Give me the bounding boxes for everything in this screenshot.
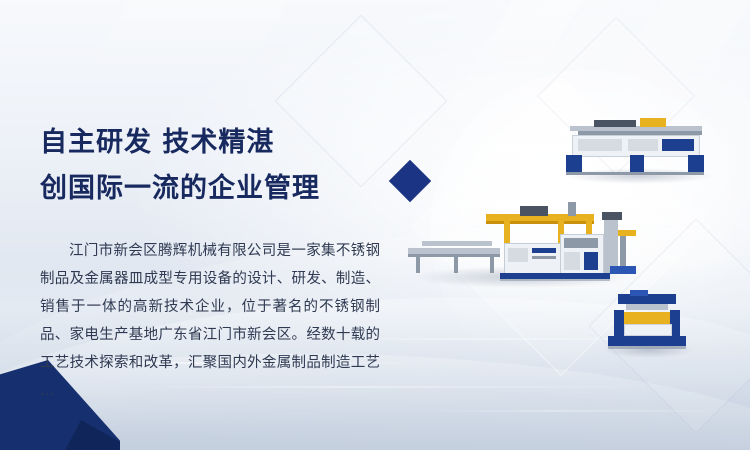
top-machine-control-box	[662, 139, 694, 151]
top-machine-image	[558, 112, 718, 182]
machine-base-right	[610, 266, 636, 274]
headline-line-1: 自主研发 技术精湛	[40, 127, 274, 158]
page-title: 自主研发 技术精湛 创国际一流的企业管理	[40, 120, 420, 212]
bottom-machine-post-left	[614, 310, 624, 338]
headline-line-2: 创国际一流的企业管理	[40, 166, 420, 212]
machine-vent	[532, 256, 556, 259]
bottom-machine-bed	[624, 324, 672, 336]
gantry-post-1	[504, 221, 510, 243]
bottom-machine-cap	[630, 290, 648, 296]
conveyor-top-bar	[422, 241, 492, 246]
top-machine-amber-unit	[640, 118, 666, 127]
conveyor-leg-1	[416, 257, 420, 273]
machine-column-cap	[602, 212, 622, 220]
bottom-machine-image	[600, 290, 696, 356]
top-machine-head	[594, 120, 636, 127]
bottom-machine-base-edge	[608, 346, 686, 349]
machine-right-header	[564, 238, 598, 248]
machine-label-strip	[532, 248, 556, 253]
conveyor-leg-2	[454, 257, 458, 273]
conveyor-leg-3	[490, 257, 494, 273]
gantry-beam-shadow	[486, 221, 594, 224]
gantry-carriage	[520, 206, 548, 216]
banner-root: 自主研发 技术精湛 创国际一流的企业管理 江门市新会区腾辉机械有限公司是一家集不…	[0, 0, 750, 450]
machine-base-edge	[500, 279, 610, 281]
bottom-machine-die-block	[624, 312, 670, 324]
machine-right-door	[564, 252, 580, 270]
bottom-machine-base	[608, 336, 686, 346]
machine-panel-door	[508, 248, 528, 262]
top-machine-leg-mid	[630, 155, 644, 173]
top-machine-base	[566, 172, 704, 175]
top-machine-panel-1	[578, 139, 622, 151]
gantry-sensor	[568, 202, 576, 216]
bottom-machine-ram	[626, 304, 668, 310]
company-description-text: 江门市新会区腾辉机械有限公司是一家集不锈钢制品及金属器皿成型专用设备的设计、研发…	[40, 243, 380, 399]
top-machine-leg-left	[566, 155, 582, 173]
machine-right-control	[584, 252, 598, 270]
top-machine-leg-right	[688, 155, 704, 173]
top-machine-panel-2	[628, 139, 658, 151]
main-machine-image	[408, 196, 638, 282]
company-description: 江门市新会区腾辉机械有限公司是一家集不锈钢制品及金属器皿成型专用设备的设计、研发…	[40, 237, 380, 405]
